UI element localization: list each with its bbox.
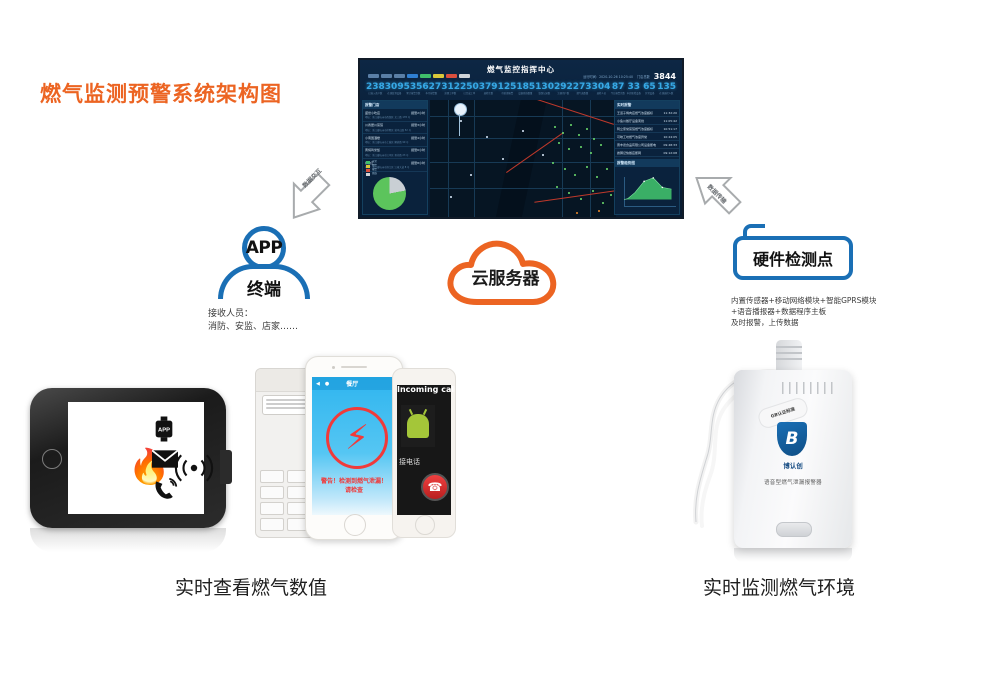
hardware-bubble: 硬件检测点 <box>733 236 853 280</box>
kpi-15: 65异常设备 <box>642 82 658 96</box>
map-dot <box>586 166 588 168</box>
kpi-10-value: 292 <box>554 82 573 92</box>
svg-text:APP: APP <box>158 428 170 434</box>
dashboard-store-count-label: 门店总数 <box>637 74 650 79</box>
map-dot <box>602 202 604 204</box>
realtime-alert-row[interactable]: 小鱼川餐厅设备离线11:05:42 <box>615 117 679 125</box>
page-title: 燃气监测预警系统架构图 <box>40 78 282 108</box>
android-robot-icon <box>401 405 435 447</box>
alarm-app-screen: ◀ ● 餐厅 ⚡ 警告！检测到燃气泄漏！ 请检查 <box>312 377 396 515</box>
map-dot <box>554 126 556 128</box>
alarm-warning-text: 警告！检测到燃气泄漏！ 请检查 <box>312 477 396 495</box>
map-boundary <box>534 190 615 202</box>
map-dot <box>580 146 582 148</box>
signal-wave-icon <box>172 452 216 484</box>
kpi-2-label: 累计报警次数 <box>405 92 422 96</box>
hardware-detection-node[interactable]: 硬件检测点 <box>733 236 853 280</box>
plug-prong <box>776 346 802 348</box>
dashboard-runtime-label: 运行时间：2020-10-26 10:25:40 <box>583 74 633 79</box>
app-title-bar: ◀ ● 餐厅 <box>312 377 396 390</box>
alert-store-row[interactable]: 黄焖鸡米饭报警6小时地址：浙江省杭州市江干区 景芳路 23 号 <box>363 147 427 160</box>
map-dot <box>570 124 572 126</box>
kpi-9-label: 维保记录数 <box>536 92 553 96</box>
kpi-8-value: 185 <box>516 82 535 92</box>
chip-1 <box>381 74 392 78</box>
kpi-4-label: 处理工单数 <box>442 92 459 96</box>
kpi-14: 33本周新增设备 <box>626 82 642 96</box>
plug-prong <box>776 352 802 354</box>
detector-reflection <box>734 548 852 562</box>
back-icon[interactable]: ◀ <box>316 381 320 387</box>
dashboard-header-meta: 运行时间：2020-10-26 10:25:40 门店总数 3844 <box>583 72 676 81</box>
dashboard-kpi-row: 238已接入商户数 309在线监测设备 535累计报警次数 627本月报警数 3… <box>366 82 676 96</box>
dashboard-map[interactable] <box>430 100 616 217</box>
kpi-5-label: 已完成工单 <box>461 92 478 96</box>
kpi-7-label: 待处理报警 <box>499 92 516 96</box>
home-button[interactable] <box>42 449 62 469</box>
kpi-0-label: 已接入商户数 <box>367 92 384 96</box>
alert-name: 晋丰德食品有限公司设备断电 <box>617 143 656 147</box>
cloud-server-node[interactable]: 云服务器 <box>443 236 568 308</box>
map-dot <box>596 176 598 178</box>
chip-6 <box>446 74 457 78</box>
map-dot <box>574 174 576 176</box>
ringing-phone-icon <box>152 478 178 502</box>
legend-swatch <box>366 165 370 168</box>
home-button[interactable] <box>344 514 366 536</box>
kpi-15-label: 异常设备 <box>642 92 656 96</box>
kpi-13-label: 今日报警次数 <box>611 92 625 96</box>
cloud-server-label: 云服务器 <box>443 264 568 289</box>
map-dot <box>590 152 592 154</box>
kpi-8-label: 设备离线数量 <box>517 92 534 96</box>
chart-x-axis <box>624 206 676 207</box>
alert-time: 11:05:42 <box>664 119 677 123</box>
chip-5 <box>433 74 444 78</box>
kpi-1-value: 309 <box>385 82 404 92</box>
kpi-12-value: 304 <box>592 82 611 92</box>
kpi-0: 238已接入商户数 <box>366 82 385 96</box>
dashboard-legend-chips <box>368 74 470 78</box>
keypad-key[interactable] <box>260 502 284 515</box>
map-marker-stem <box>459 114 460 136</box>
map-dot <box>580 198 582 200</box>
map-road <box>474 100 475 217</box>
map-dot <box>542 154 544 156</box>
trend-chart-header: 报警趋势图 <box>615 159 679 167</box>
map-dot <box>552 162 554 164</box>
store-detail: 地址：浙江省杭州市江干区 景芳路 23 号 <box>365 153 425 157</box>
map-road <box>430 188 616 189</box>
map-dot <box>556 186 558 188</box>
store-name: 川香居川菜馆 <box>365 123 383 127</box>
terminal-app-node[interactable]: APP 终端 <box>218 226 310 296</box>
kpi-14-label: 本周新增设备 <box>627 92 641 96</box>
store-detail: 地址：浙江省杭州市拱墅区 莫干山路 52 号 <box>365 128 425 132</box>
legend-label: 离线 <box>372 172 377 176</box>
alert-store-row[interactable]: 盛世小吃店报警2小时地址：浙江省杭州市西湖区 文三路 178 号 <box>363 109 427 122</box>
legend-item: 离线 <box>366 172 377 176</box>
store-name: 黄焖鸡米饭 <box>365 148 380 152</box>
landscape-phone-screen: 🔥 APP <box>68 402 204 514</box>
chip-4 <box>420 74 431 78</box>
pie-chart-legend: 正常 预警 报警 离线 <box>366 160 377 176</box>
map-dot <box>578 134 580 136</box>
kpi-3-value: 627 <box>422 82 441 92</box>
kpi-3: 627本月报警数 <box>422 82 441 96</box>
incoming-call-phone-mockup[interactable]: Incoming call 接电话 ☎ <box>392 368 456 538</box>
map-road <box>448 100 449 217</box>
kpi-9-value: 130 <box>535 82 554 92</box>
map-road <box>430 162 616 163</box>
alert-time: 10:24:05 <box>664 135 677 139</box>
kpi-4: 312处理工单数 <box>441 82 460 96</box>
app-screen-title: 餐厅 <box>346 379 358 388</box>
kpi-3-label: 本月报警数 <box>423 92 440 96</box>
alert-time: 09:12:08 <box>664 151 677 155</box>
kpi-12-label: 巡检人员 <box>593 92 610 96</box>
trend-area-path <box>624 177 677 203</box>
store-time: 报警8小时 <box>411 161 425 165</box>
shield-logo-icon: B <box>777 422 809 456</box>
keypad-key[interactable] <box>260 486 284 499</box>
earpiece-speaker <box>341 366 367 368</box>
terminal-label: 终端 <box>247 275 281 300</box>
power-plug <box>776 340 802 372</box>
kpi-0-value: 238 <box>366 82 385 92</box>
alert-name: 小鱼川餐厅设备离线 <box>617 119 644 123</box>
map-dot <box>522 130 524 132</box>
right-panel-header: 实时报警 <box>615 101 679 109</box>
map-dot <box>593 138 595 140</box>
dashboard-alert-store-panel: 报警门店 盛世小吃店报警2小时地址：浙江省杭州市西湖区 文三路 178 号 川香… <box>362 100 428 215</box>
kpi-1-label: 在线监测设备 <box>386 92 403 96</box>
map-dot <box>568 192 570 194</box>
kpi-7-value: 125 <box>498 82 517 92</box>
realtime-alert-row[interactable]: 阿立家常菜馆燃气浓度超标10:51:17 <box>615 125 679 133</box>
map-dot <box>592 190 594 192</box>
alarm-indicator-circle: ⚡ <box>326 407 388 469</box>
realtime-alert-row[interactable]: 可味工坊燃气浓度异常10:24:05 <box>615 133 679 141</box>
left-panel-header: 报警门店 <box>363 101 427 109</box>
incoming-call-subtext: 接电话 <box>399 457 420 467</box>
map-location-marker[interactable] <box>454 103 467 116</box>
chip-3 <box>407 74 418 78</box>
detector-product-name: 语音型燃气泄漏报警器 <box>734 478 852 486</box>
home-button[interactable] <box>415 515 435 535</box>
kpi-6: 379巡检次数 <box>479 82 498 96</box>
alert-store-row[interactable]: 小南国酒楼报警4小时地址：浙江省杭州市上城区 解放路 99 号 <box>363 134 427 147</box>
map-dot <box>610 194 612 196</box>
kpi-11: 273燃气表数量 <box>573 82 592 96</box>
monitoring-dashboard-screen: 燃气监控指挥中心 运行时间：2020-10-26 10:25:40 门店总数 3… <box>358 58 684 219</box>
alert-name: 可味工坊燃气浓度异常 <box>617 135 647 139</box>
store-detail: 地址：浙江省杭州市上城区 解放路 99 号 <box>365 140 425 144</box>
caption-left: 实时查看燃气数值 <box>175 573 327 600</box>
map-dot-alert <box>598 210 600 212</box>
map-road <box>562 100 563 217</box>
map-dot <box>586 128 588 130</box>
kpi-16-label: 在线巡检人数 <box>658 92 675 96</box>
hardware-note: 内置传感器+移动网络模块+智能GPRS模块 +语音播报器+数据程序主板 及时报警… <box>731 295 876 328</box>
store-detail: 地址：浙江省杭州市西湖区 文三路 178 号 <box>365 115 425 119</box>
device-status-pie-chart <box>373 177 406 210</box>
phone-side-nub <box>220 450 232 484</box>
map-road <box>430 138 616 139</box>
detector-brand: 博认创 <box>734 460 852 470</box>
legend-swatch <box>366 169 370 172</box>
chip-2 <box>394 74 405 78</box>
kpi-10-label: 注册用户数 <box>555 92 572 96</box>
chip-7 <box>459 74 470 78</box>
alert-store-row[interactable]: 川香居川菜馆报警3小时地址：浙江省杭州市拱墅区 莫干山路 52 号 <box>363 122 427 135</box>
certification-label: GB认证标准 <box>770 406 796 419</box>
terminal-shoulders: 终端 <box>218 264 310 299</box>
legend-swatch <box>366 173 370 176</box>
kpi-5: 250已完成工单 <box>460 82 479 96</box>
kpi-14-value: 33 <box>626 82 642 92</box>
keypad-key[interactable] <box>260 470 284 483</box>
front-camera <box>332 366 335 369</box>
map-dot <box>558 142 560 144</box>
detector-test-button[interactable] <box>776 522 812 537</box>
map-dot-alert <box>576 212 578 214</box>
kpi-13: 87今日报警次数 <box>610 82 626 96</box>
kpi-4-value: 312 <box>441 82 460 92</box>
alarm-warning-line2: 请检查 <box>312 486 396 495</box>
store-name: 盛世小吃店 <box>365 111 380 115</box>
hardware-label: 硬件检测点 <box>753 246 833 270</box>
message-line <box>266 407 308 409</box>
alert-time: 09:48:33 <box>664 143 677 147</box>
location-pin-icon: ● <box>325 381 329 387</box>
realtime-alert-row[interactable]: 王道子烤肉店燃气浓度超标11:32:20 <box>615 109 679 117</box>
kpi-16: 135在线巡检人数 <box>657 82 676 96</box>
alarm-app-phone-mockup[interactable]: ◀ ● 餐厅 ⚡ 警告！检测到燃气泄漏！ 请检查 <box>305 356 403 540</box>
alarm-trend-area-chart <box>619 177 676 211</box>
kpi-8: 185设备离线数量 <box>516 82 535 96</box>
map-dot <box>460 120 462 122</box>
store-name: 小南国酒楼 <box>365 136 380 140</box>
alert-name: 蜂狮记快餐店断网 <box>617 151 641 155</box>
dashboard-realtime-alert-panel: 实时报警 王道子烤肉店燃气浓度超标11:32:20 小鱼川餐厅设备离线11:05… <box>614 100 680 215</box>
kpi-9: 130维保记录数 <box>535 82 554 96</box>
kpi-5-value: 250 <box>460 82 479 92</box>
legend-swatch <box>366 161 370 164</box>
app-badge-label: APP <box>246 238 283 258</box>
map-dot <box>564 168 566 170</box>
kpi-1: 309在线监测设备 <box>385 82 404 96</box>
map-dot <box>562 132 564 134</box>
kpi-12: 304巡检人员 <box>592 82 611 96</box>
map-dot <box>606 168 608 170</box>
store-time: 报警6小时 <box>411 148 425 152</box>
terminal-note: 接收人员： 消防、安监、店家…… <box>208 308 298 334</box>
store-time: 报警3小时 <box>411 123 425 127</box>
kpi-11-value: 273 <box>573 82 592 92</box>
kpi-6-value: 379 <box>479 82 498 92</box>
kpi-15-value: 65 <box>642 82 658 92</box>
smartwatch-app-icon: APP <box>154 416 174 442</box>
incoming-call-title: Incoming call <box>397 385 455 394</box>
detector-front-face: GB认证标准 B 博认创 语音型燃气泄漏报警器 <box>734 370 852 548</box>
alarm-warning-line1: 警告！检测到燃气泄漏！ <box>312 477 396 486</box>
decline-call-icon[interactable]: ☎ <box>421 473 449 501</box>
map-dot <box>470 174 472 176</box>
android-body <box>407 414 429 438</box>
realtime-alert-row[interactable]: 晋丰德食品有限公司设备断电09:48:33 <box>615 141 679 149</box>
map-dot <box>568 148 570 150</box>
dashboard-store-count-value: 3844 <box>654 72 676 81</box>
landscape-phone-mockup[interactable]: 🔥 APP <box>30 388 226 528</box>
kpi-13-value: 87 <box>610 82 626 92</box>
alert-name: 阿立家常菜馆燃气浓度超标 <box>617 127 653 131</box>
kpi-7: 125待处理报警 <box>498 82 517 96</box>
kpi-16-value: 135 <box>657 82 676 92</box>
kpi-6-label: 巡检次数 <box>480 92 497 96</box>
alert-time: 11:32:20 <box>664 111 677 115</box>
kpi-11-label: 燃气表数量 <box>574 92 591 96</box>
store-time: 报警4小时 <box>411 136 425 140</box>
shield-shape: B <box>777 422 807 456</box>
detector-speaker-holes <box>782 382 834 394</box>
store-time: 报警2小时 <box>411 111 425 115</box>
gas-detector-device: BDC-YD-8468 GB认证标准 B 博认创 语音型燃气泄漏报警器 <box>690 340 920 555</box>
map-dot <box>600 144 602 146</box>
alert-name: 王道子烤肉店燃气浓度超标 <box>617 111 653 115</box>
caption-right: 实时监测燃气环境 <box>703 573 855 600</box>
map-dot <box>502 158 504 160</box>
keypad-key[interactable] <box>260 518 284 531</box>
map-dot <box>486 136 488 138</box>
kpi-10: 292注册用户数 <box>554 82 573 96</box>
realtime-alert-row[interactable]: 蜂狮记快餐店断网09:12:08 <box>615 149 679 157</box>
map-dot <box>450 196 452 198</box>
phone-reflection <box>30 528 226 552</box>
envelope-icon <box>152 450 178 468</box>
kpi-2: 535累计报警次数 <box>404 82 423 96</box>
dashboard-background: 燃气监控指挥中心 运行时间：2020-10-26 10:25:40 门店总数 3… <box>360 60 682 217</box>
chip-0 <box>368 74 379 78</box>
lightning-bolt-icon: ⚡ <box>345 421 369 455</box>
plug-prong <box>776 358 802 360</box>
alert-time: 10:51:17 <box>664 127 677 131</box>
kpi-2-value: 535 <box>404 82 423 92</box>
